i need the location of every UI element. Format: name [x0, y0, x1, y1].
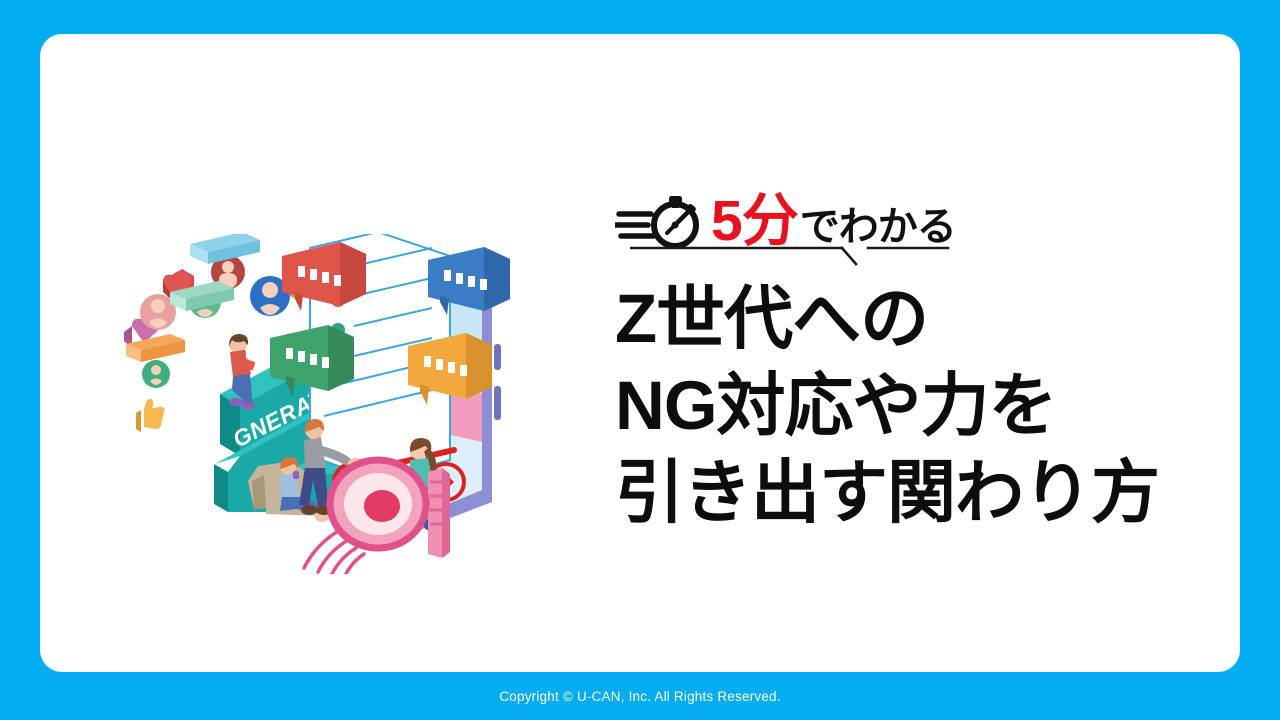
slide-card: GNERATION: [40, 34, 1240, 672]
speech-bubble-icon: [190, 234, 260, 264]
illustration-svg: GNERATION: [110, 234, 560, 574]
person-on-block: [229, 334, 256, 410]
speech-bubble-icon: [126, 334, 185, 362]
avatar-icon: [142, 360, 170, 388]
thumbs-up-icon: [136, 399, 165, 432]
illustration: GNERATION: [110, 234, 560, 574]
title-line-1: Z世代への: [615, 276, 1255, 363]
eyebrow-underline: [630, 240, 970, 268]
copyright-text: Copyright © U-CAN, Inc. All Rights Reser…: [499, 689, 780, 704]
page-title: Z世代への NG対応や力を 引き出す関わり方: [615, 276, 1255, 537]
title-line-3: 引き出す関わり方: [615, 450, 1255, 537]
footer: Copyright © U-CAN, Inc. All Rights Reser…: [0, 672, 1280, 720]
text-column: 5分 でわかる Z世代への NG対応や力を 引き出す関わり方: [615, 184, 1255, 537]
title-line-2: NG対応や力を: [615, 363, 1255, 450]
eyebrow: 5分 でわかる: [615, 184, 1255, 258]
